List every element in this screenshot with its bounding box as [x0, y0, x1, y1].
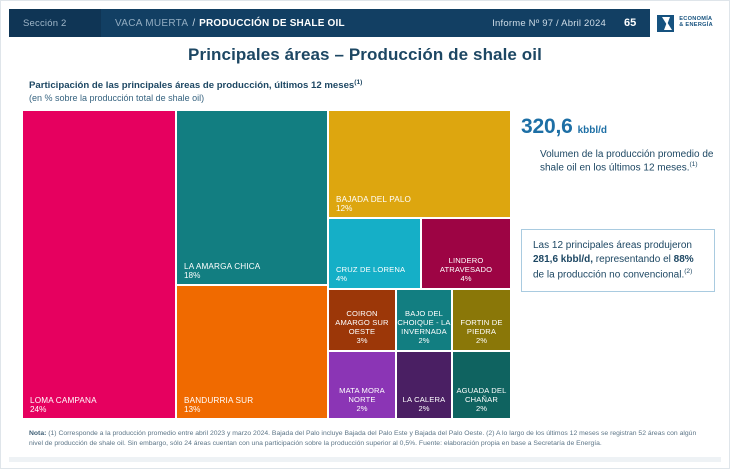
header-right: Informe Nº 97 / Abril 2024 65 ECONOMÍA &…: [492, 9, 721, 37]
breadcrumb: VACA MUERTA / PRODUCCIÓN DE SHALE OIL: [101, 18, 345, 29]
kpi-footnote-ref: (1): [690, 161, 698, 168]
treemap-cell-label: LA CALERA 2%: [397, 396, 451, 414]
footnote-text: (1) Corresponde a la producción promedio…: [29, 430, 696, 447]
footnote-label: Nota:: [29, 430, 46, 437]
treemap-cell-label: BAJADA DEL PALO 12%: [329, 195, 510, 214]
treemap-cell-label: LOMA CAMPANA 24%: [23, 396, 175, 415]
treemap-cell-label: CRUZ DE LORENA 4%: [329, 266, 420, 284]
treemap-cell-label: LA AMARGA CHICA 18%: [177, 262, 327, 281]
treemap-chart: LOMA CAMPANA 24% LA AMARGA CHICA 18% BAN…: [22, 110, 511, 419]
kpi-block: 320,6kbbl/d Volumen de la producción pro…: [521, 115, 721, 175]
treemap-cell-label: BAJO DEL CHOIQUE - LA INVERNADA 2%: [397, 310, 451, 346]
section-tag: Sección 2: [9, 9, 101, 37]
breadcrumb-parent: VACA MUERTA: [115, 18, 188, 29]
bottom-divider: [9, 457, 721, 462]
treemap-cell-label: AGUADA DEL CHAÑAR 2%: [453, 387, 510, 414]
kpi-value: 320,6: [521, 115, 573, 139]
treemap-cell-fortin-de-piedra[interactable]: FORTIN DE PIEDRA 2%: [452, 289, 511, 351]
chart-subtitle-text: Participación de las principales áreas d…: [29, 80, 354, 91]
treemap-cell-label: COIRON AMARGO SUR OESTE 3%: [329, 310, 395, 346]
page-title: Principales áreas – Producción de shale …: [1, 45, 729, 65]
brand-line-2: & ENERGÍA: [679, 23, 713, 29]
slide: Sección 2 VACA MUERTA / PRODUCCIÓN DE SH…: [0, 0, 730, 469]
kpi-description-text: Volumen de la producción promedio de sha…: [540, 149, 713, 174]
chart-subtitle-units: (en % sobre la producción total de shale…: [29, 93, 204, 103]
callout-footnote-ref: (2): [684, 268, 692, 275]
treemap-cell-aguada-del-chanar[interactable]: AGUADA DEL CHAÑAR 2%: [452, 351, 511, 419]
lightning-bolt-icon: [657, 15, 674, 32]
treemap-cell-lindero-atravesado[interactable]: LINDERO ATRAVESADO 4%: [421, 218, 511, 289]
chart-subtitle-footnote-ref: (1): [354, 79, 362, 86]
kpi-description: Volumen de la producción promedio de sha…: [540, 148, 721, 175]
treemap-cell-label: BANDURRIA SUR 13%: [177, 396, 327, 415]
callout-part-3: de la producción no convencional.: [533, 269, 684, 280]
treemap-cell-bandurria-sur[interactable]: BANDURRIA SUR 13%: [176, 285, 328, 419]
treemap-cell-la-calera[interactable]: LA CALERA 2%: [396, 351, 452, 419]
treemap-cell-bajo-del-choique-la-invernada[interactable]: BAJO DEL CHOIQUE - LA INVERNADA 2%: [396, 289, 452, 351]
header-bar: Sección 2 VACA MUERTA / PRODUCCIÓN DE SH…: [9, 9, 721, 37]
footnote: Nota: (1) Corresponde a la producción pr…: [29, 429, 709, 449]
treemap-cell-mata-mora-norte[interactable]: MATA MORA NORTE 2%: [328, 351, 396, 419]
callout-part-1: Las 12 principales áreas produjeron: [533, 240, 692, 251]
breadcrumb-current: PRODUCCIÓN DE SHALE OIL: [199, 18, 345, 29]
treemap-cell-loma-campana[interactable]: LOMA CAMPANA 24%: [22, 110, 176, 419]
page-number: 65: [606, 17, 650, 29]
report-label: Informe Nº 97 / Abril 2024: [492, 18, 606, 29]
callout-bold-1: 281,6 kbbl/d,: [533, 254, 593, 265]
callout-box: Las 12 principales áreas produjeron 281,…: [521, 229, 715, 292]
treemap-cell-la-amarga-chica[interactable]: LA AMARGA CHICA 18%: [176, 110, 328, 285]
brand-logo-text: ECONOMÍA & ENERGÍA: [679, 17, 713, 29]
treemap-cell-coiron-amargo-sur-oeste[interactable]: COIRON AMARGO SUR OESTE 3%: [328, 289, 396, 351]
treemap-cell-label: LINDERO ATRAVESADO 4%: [422, 257, 510, 284]
brand-logo: ECONOMÍA & ENERGÍA: [650, 9, 721, 37]
treemap-cell-label: FORTIN DE PIEDRA 2%: [453, 319, 510, 346]
callout-part-2: representando el: [593, 254, 674, 265]
callout-bold-2: 88%: [674, 254, 694, 265]
treemap-cell-cruz-de-lorena[interactable]: CRUZ DE LORENA 4%: [328, 218, 421, 289]
chart-subtitle: Participación de las principales áreas d…: [29, 79, 362, 91]
treemap-cell-bajada-del-palo[interactable]: BAJADA DEL PALO 12%: [328, 110, 511, 218]
kpi-unit: kbbl/d: [578, 125, 607, 136]
breadcrumb-separator: /: [192, 18, 195, 29]
treemap-cell-label: MATA MORA NORTE 2%: [329, 387, 395, 414]
